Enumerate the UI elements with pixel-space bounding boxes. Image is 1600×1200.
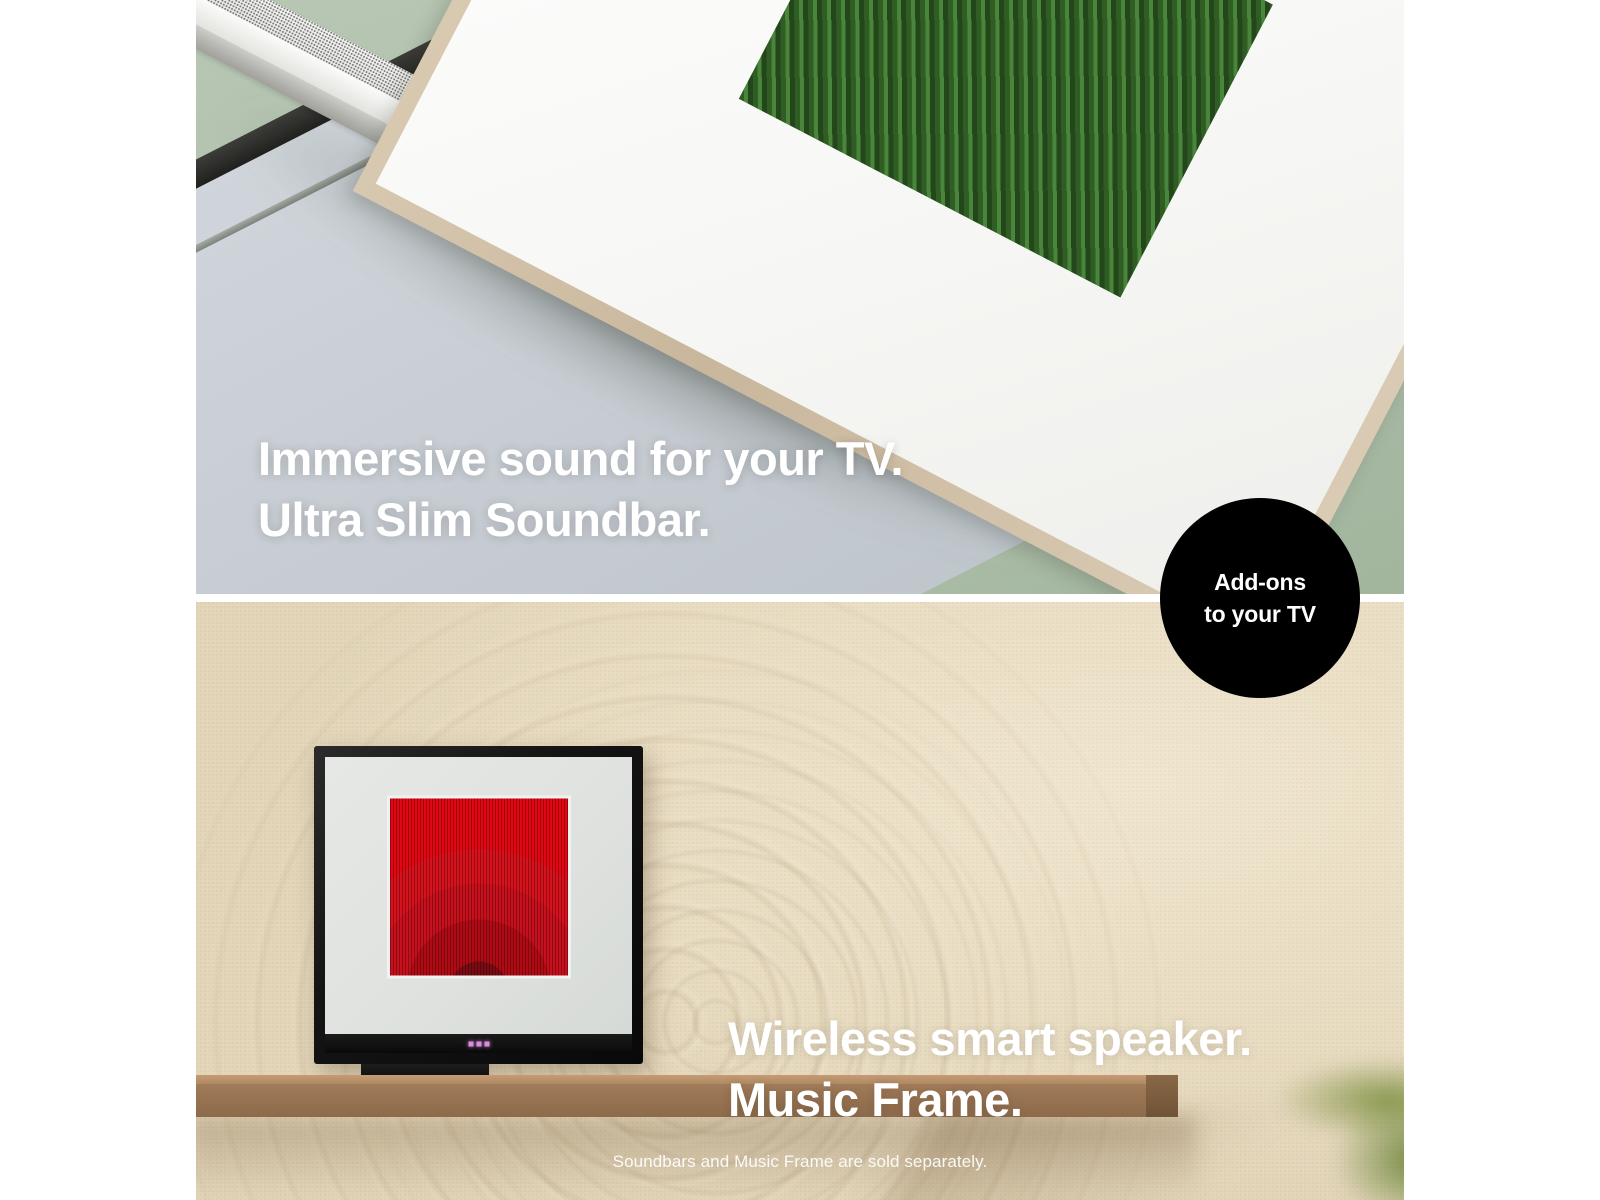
disclaimer-text: Soundbars and Music Frame are sold separ… bbox=[0, 1152, 1600, 1172]
bottom-headline-line-1: Wireless smart speaker. bbox=[728, 1012, 1252, 1065]
music-frame-product bbox=[314, 746, 643, 1064]
led-dot bbox=[476, 1041, 481, 1046]
top-headline: Immersive sound for your TV. Ultra Slim … bbox=[258, 428, 903, 550]
music-frame-led-indicators bbox=[468, 1041, 489, 1046]
music-frame-mat bbox=[325, 757, 632, 1034]
music-frame-artwork bbox=[390, 799, 568, 976]
add-ons-badge[interactable]: Add-ons to your TV bbox=[1160, 498, 1360, 698]
artwork-line-texture bbox=[390, 799, 568, 976]
led-dot bbox=[468, 1041, 473, 1046]
led-dot bbox=[484, 1041, 489, 1046]
bottom-headline-line-2: Music Frame. bbox=[728, 1073, 1022, 1126]
music-frame-bottom-bar bbox=[325, 1034, 632, 1053]
top-headline-line-1: Immersive sound for your TV. bbox=[258, 432, 903, 485]
promo-banner: Immersive sound for your TV. Ultra Slim … bbox=[0, 0, 1600, 1200]
bottom-headline: Wireless smart speaker. Music Frame. bbox=[728, 1008, 1252, 1130]
badge-line-2: to your TV bbox=[1204, 598, 1316, 630]
badge-line-1: Add-ons bbox=[1214, 566, 1306, 598]
top-headline-line-2: Ultra Slim Soundbar. bbox=[258, 493, 710, 546]
